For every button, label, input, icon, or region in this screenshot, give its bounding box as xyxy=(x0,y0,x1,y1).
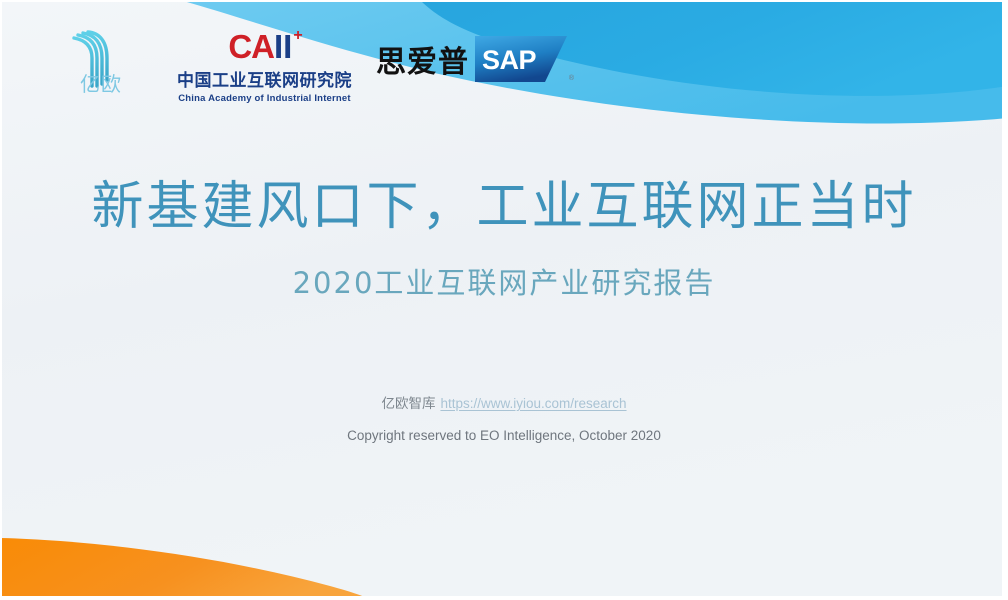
caii-chinese-name: 中国工业互联网研究院 xyxy=(177,66,352,91)
sap-logo: 思爱普 SAP ® xyxy=(376,26,567,82)
sap-registered-mark: ® xyxy=(569,75,574,82)
copyright-text: Copyright reserved to EO Intelligence, O… xyxy=(0,428,1008,443)
sap-badge-icon: SAP ® xyxy=(475,36,567,82)
caii-letter-c: C xyxy=(228,30,251,63)
caii-english-name: China Academy of Industrial Internet xyxy=(178,93,351,104)
caii-letter-a: A xyxy=(251,30,274,63)
title-block: 新基建风口下，工业互联网正当时 2020工业互联网产业研究报告 xyxy=(0,178,1008,302)
title-slide: 亿欧 C A II + 中国工业互联网研究院 China Academy of … xyxy=(0,0,1008,600)
caii-logo: C A II + 中国工业互联网研究院 China Academy of Ind… xyxy=(177,26,352,104)
caii-plus-superscript: + xyxy=(293,28,301,44)
page-subtitle: 2020工业互联网产业研究报告 xyxy=(0,260,1008,302)
logo-divider xyxy=(154,32,155,90)
source-url-link[interactable]: https://www.iyiou.com/research xyxy=(440,396,626,411)
source-line: 亿欧智库https://www.iyiou.com/research xyxy=(0,392,1008,412)
page-title: 新基建风口下，工业互联网正当时 xyxy=(0,178,1008,238)
caii-acronym: C A II + xyxy=(228,30,300,63)
source-brand: 亿欧智库 xyxy=(381,396,435,412)
svg-text:SAP: SAP xyxy=(482,45,537,75)
credits-block: 亿欧智库https://www.iyiou.com/research Copyr… xyxy=(0,392,1008,443)
slide-canvas: 亿欧 C A II + 中国工业互联网研究院 China Academy of … xyxy=(0,0,1008,600)
logo-bar: 亿欧 C A II + 中国工业互联网研究院 China Academy of … xyxy=(44,26,567,104)
yiou-wordmark: 亿欧 xyxy=(80,68,122,97)
yiou-logo: 亿欧 xyxy=(44,26,140,90)
sap-chinese-name: 思爱普 xyxy=(376,37,469,81)
caii-letters-ii: II xyxy=(274,30,292,63)
